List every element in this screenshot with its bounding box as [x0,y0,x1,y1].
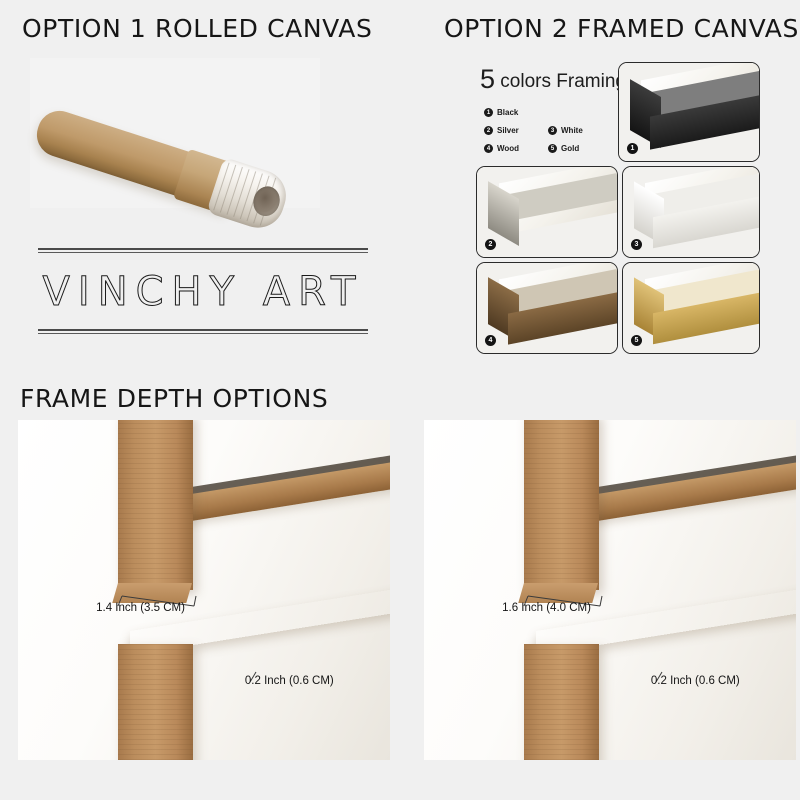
swatch-badge-5: 5 [631,335,642,346]
edge-dimension-label: 0.2 Inch (0.6 CM) [245,675,334,687]
frame-depth-photo-left: 1.4 Inch (3.5 CM) 0.2 Inch (0.6 CM) [18,420,390,760]
badge-3: 3 [548,126,557,135]
infographic-page: OPTION 1 ROLLED CANVAS OPTION 2 FRAMED C… [0,0,800,800]
swatch-badge-1: 1 [627,143,638,154]
brand-name: VINCHY ART [38,253,368,329]
dimension-leader-lines [424,420,796,760]
rolled-canvas-photo [30,58,320,208]
option-1-heading: OPTION 1 ROLLED CANVAS [22,14,372,43]
frame-depth-photo-right: 1.6 Inch (4.0 CM) 0.2 Inch (0.6 CM) [424,420,796,760]
frame-swatch-photo [619,63,759,161]
option-2-heading: OPTION 2 FRAMED CANVAS [444,14,799,43]
legend-item-silver: 2 Silver [484,126,548,135]
frame-swatch-photo [477,167,617,257]
dimension-leader-lines [18,420,390,760]
legend-item-gold: 5 Gold [548,144,612,153]
frame-swatch-silver[interactable]: 2 [476,166,618,258]
frame-swatch-white[interactable]: 3 [622,166,760,258]
frame-swatch-photo [477,263,617,353]
legend-label-gold: Gold [561,144,579,153]
frame-depth-heading: FRAME DEPTH OPTIONS [20,384,328,413]
swatch-badge-2: 2 [485,239,496,250]
brand-logo: VINCHY ART [38,248,368,358]
depth-dimension-label: 1.6 Inch (4.0 CM) [502,602,591,614]
frame-swatch-photo [623,263,759,353]
frame-swatch-gold[interactable]: 5 [622,262,760,354]
frame-swatch-black[interactable]: 1 [618,62,760,162]
legend-item-black: 1 Black [484,108,612,117]
logo-rule-bottom [38,329,368,334]
framing-count: 5 [480,64,495,94]
legend-label-wood: Wood [497,144,519,153]
badge-2: 2 [484,126,493,135]
badge-5: 5 [548,144,557,153]
swatch-badge-3: 3 [631,239,642,250]
logo-rule-thin [38,333,368,334]
legend-label-black: Black [497,108,518,117]
badge-4: 4 [484,144,493,153]
badge-1: 1 [484,108,493,117]
framing-title-rest: colors Framing [495,71,626,92]
canvas-tube [29,99,283,233]
swatch-badge-4: 4 [485,335,496,346]
frame-swatch-wood[interactable]: 4 [476,262,618,354]
frame-color-legend: 1 Black 2 Silver 3 White 4 Wood 5 Gold [484,108,612,153]
legend-label-white: White [561,126,583,135]
rolled-canvas-roll [206,157,292,234]
depth-dimension-label: 1.4 Inch (3.5 CM) [96,602,185,614]
legend-item-white: 3 White [548,126,612,135]
edge-dimension-label: 0.2 Inch (0.6 CM) [651,675,740,687]
legend-item-wood: 4 Wood [484,144,548,153]
frame-swatch-photo [623,167,759,257]
legend-label-silver: Silver [497,126,519,135]
framing-title: 5 colors Framing [480,64,626,95]
